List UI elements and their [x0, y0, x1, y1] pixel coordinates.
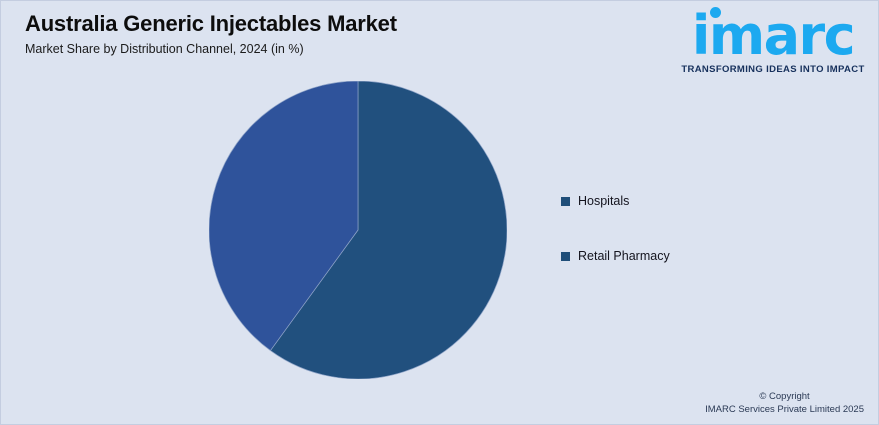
- copyright-line-2: IMARC Services Private Limited 2025: [705, 403, 864, 416]
- legend-swatch-icon: [561, 252, 570, 261]
- page-title: Australia Generic Injectables Market: [25, 11, 397, 37]
- infographic-canvas: Australia Generic Injectables Market Mar…: [0, 0, 879, 425]
- imarc-logo-dot-icon: [710, 7, 721, 18]
- legend-label: Retail Pharmacy: [578, 249, 670, 263]
- pie-slice-group: [209, 81, 507, 379]
- pie-chart-svg: [209, 81, 507, 379]
- legend-item-hospitals[interactable]: Hospitals: [561, 191, 811, 211]
- page-subtitle: Market Share by Distribution Channel, 20…: [25, 42, 304, 56]
- legend-label: Hospitals: [578, 194, 629, 208]
- imarc-logo: imarc TRANSFORMING IDEAS INTO IMPACT: [678, 9, 868, 79]
- imarc-wordmark: imarc: [678, 9, 868, 63]
- pie-chart: [209, 81, 507, 379]
- copyright-line-1: © Copyright: [705, 390, 864, 403]
- chart-legend: HospitalsRetail Pharmacy: [561, 191, 811, 301]
- copyright-notice: © Copyright IMARC Services Private Limit…: [705, 390, 864, 416]
- legend-item-retail-pharmacy[interactable]: Retail Pharmacy: [561, 246, 811, 266]
- legend-swatch-icon: [561, 197, 570, 206]
